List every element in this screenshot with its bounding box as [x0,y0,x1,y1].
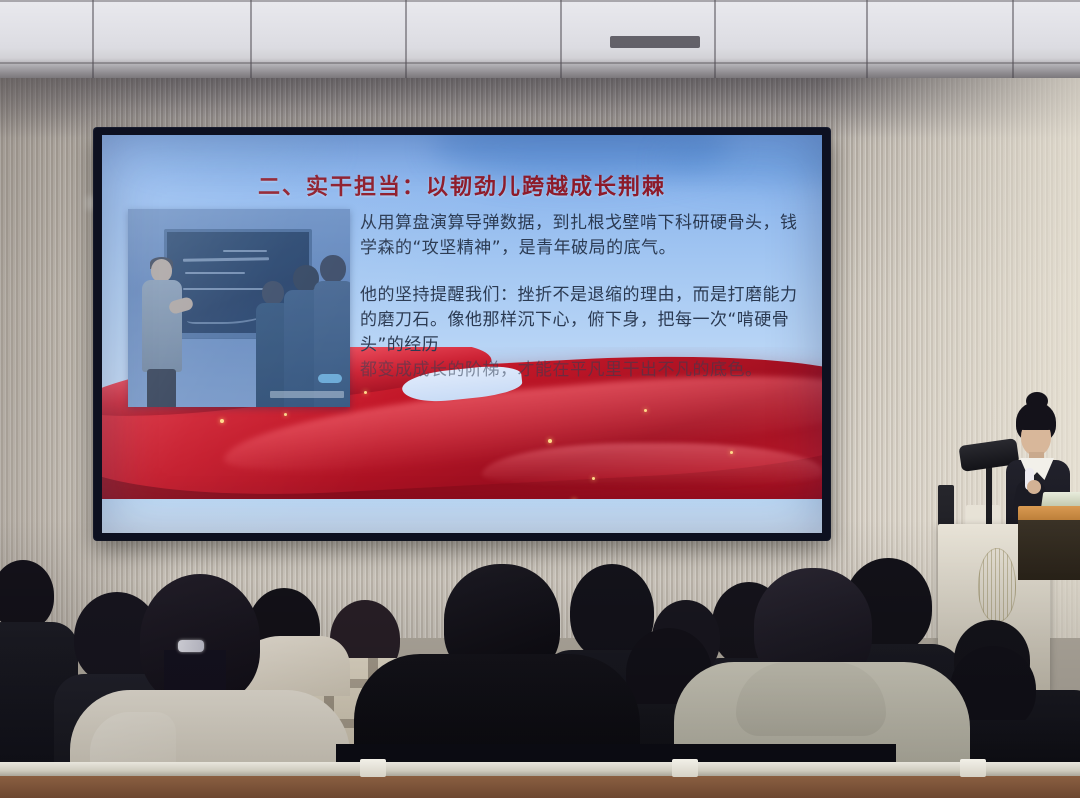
slide-paragraph-1: 从用算盘演算导弹数据，到扎根戈壁啃下科研硬骨头，钱学森的“攻坚精神”，是青年破局… [360,211,798,261]
sparkle-icon [548,439,552,443]
sparkle-icon [730,451,733,454]
hoodie-hood [736,662,886,736]
sparkle-icon [364,391,367,394]
rail-bracket [672,759,698,777]
sparkle-icon [592,477,595,480]
slide-paragraph-2: 他的坚持提醒我们：挫折不是退缩的理由，而是打磨能力的磨刀石。像他那样沉下心，俯下… [360,283,798,358]
rail-bracket [360,759,386,777]
cloud-wisp-icon [132,135,332,173]
slide-body-text: 从用算盘演算导弹数据，到扎根戈壁啃下科研硬骨头，钱学森的“攻坚精神”，是青年破局… [360,211,798,383]
hair-clip-icon [178,640,204,652]
presentation-slide: 二、实干担当：以韧劲儿跨越成长荆棘 [102,135,822,533]
slide-paragraph-3: 都变成成长的阶梯，才能在平凡里干出不凡的底色。 [360,358,798,383]
lecture-hall-photo: 二、实干担当：以韧劲儿跨越成长荆棘 [0,0,1080,798]
microphone-stand [986,458,992,530]
desk-rail [0,762,1080,776]
photo-blue-tint [128,209,350,407]
sparkle-icon [220,419,224,423]
slide-bottom-sky-strip [102,499,822,533]
display-screen-bezel[interactable]: 二、实干担当：以韧劲儿跨越成长荆棘 [94,128,830,540]
photo-watermark-badge-icon [318,374,342,383]
rail-bracket [960,759,986,777]
podium-emblem-icon [978,548,1016,622]
sparkle-icon [644,409,647,412]
ceiling-vent [610,36,700,48]
slide-title: 二、实干担当：以韧劲儿跨越成长荆棘 [102,169,822,201]
sparkle-icon [284,413,287,416]
photo-caption-strip [270,391,344,398]
desk-surface [0,776,1080,798]
ceiling [0,0,1080,86]
desk-shadow [336,744,896,764]
slide-photo [128,209,350,407]
podium-front-panel [1018,520,1080,580]
